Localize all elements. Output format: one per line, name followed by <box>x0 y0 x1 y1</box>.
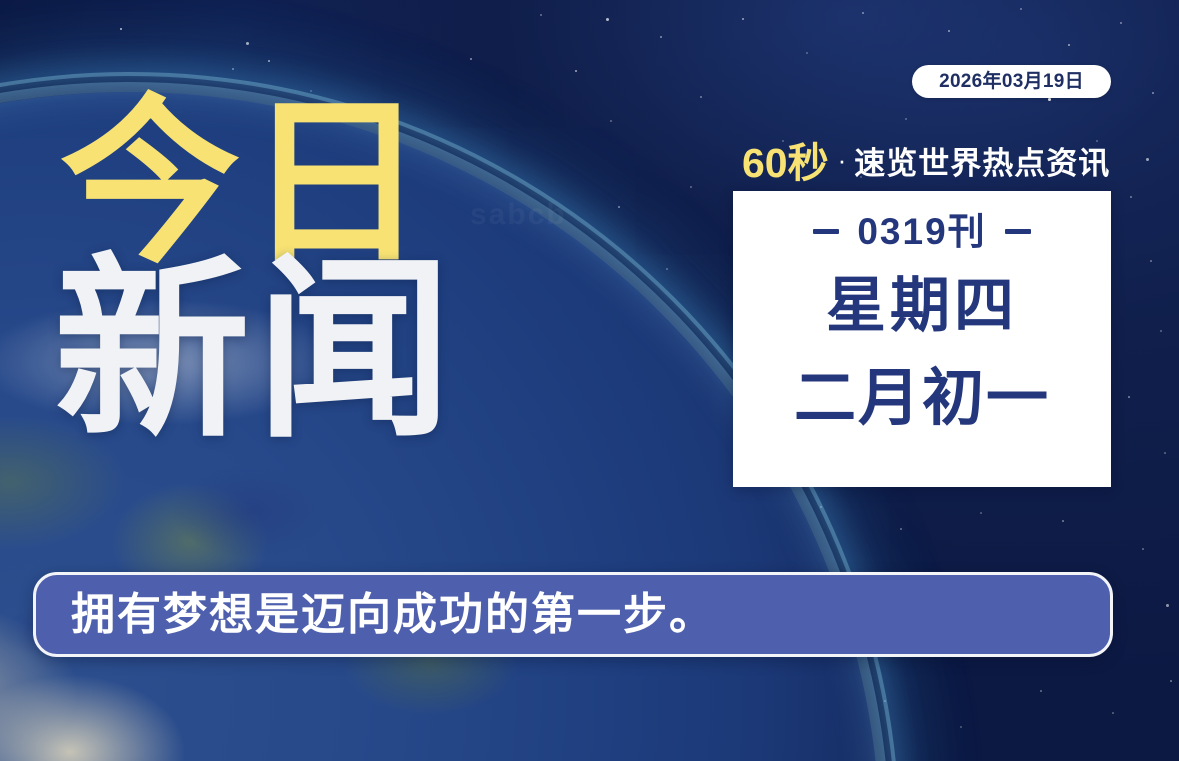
tagline: 60秒 · 速览世界热点资讯 <box>742 140 1114 186</box>
dash-left-icon <box>813 229 839 234</box>
card-issue-row: 0319刊 <box>813 213 1030 250</box>
poster-canvas: sabcb 今日 新闻 2026年03月19日 60秒 · 速览世界热点资讯 0… <box>0 0 1179 761</box>
date-badge-label: 2026年03月19日 <box>939 72 1084 91</box>
page-title-line-2: 新闻 <box>54 257 458 445</box>
date-card: 0319刊 星期四 二月初一 <box>733 191 1111 487</box>
date-badge: 2026年03月19日 <box>912 65 1111 98</box>
quote-text: 拥有梦想是迈向成功的第一步。 <box>71 593 715 637</box>
background-watermark: sabcb <box>470 198 567 232</box>
tagline-separator-icon: · <box>838 147 847 173</box>
card-weekday-label: 星期四 <box>826 276 1018 336</box>
tagline-duration: 60秒 <box>742 143 829 184</box>
card-issue-label: 0319刊 <box>857 213 986 250</box>
tagline-description: 速览世界热点资讯 <box>854 148 1110 179</box>
quote-banner: 拥有梦想是迈向成功的第一步。 <box>33 572 1113 657</box>
page-title: 今日 新闻 <box>60 98 458 445</box>
card-lunar-date-label: 二月初一 <box>794 368 1050 430</box>
dash-right-icon <box>1005 229 1031 234</box>
